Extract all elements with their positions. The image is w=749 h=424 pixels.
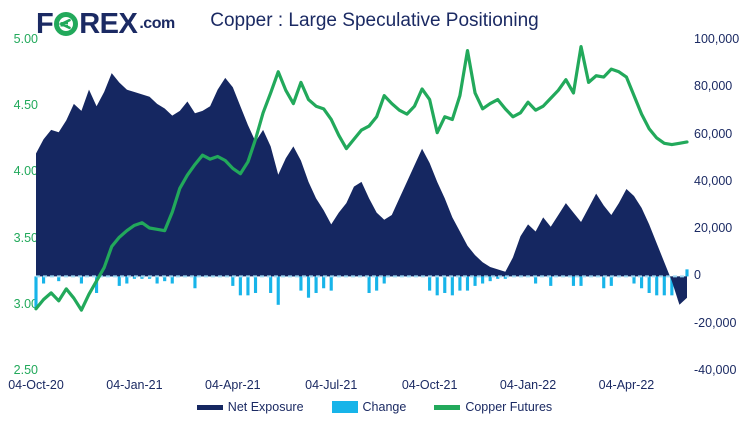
change-bar (685, 269, 688, 276)
legend-label: Change (363, 400, 407, 414)
change-bar (572, 276, 575, 285)
legend-item[interactable]: Net Exposure (197, 400, 304, 414)
change-bar (42, 276, 45, 283)
change-bar (156, 276, 159, 283)
change-bar (655, 276, 658, 295)
change-bar (368, 276, 371, 293)
change-bar (383, 276, 386, 283)
change-bar (579, 276, 582, 285)
change-bar (640, 276, 643, 288)
change-bar (458, 276, 461, 290)
change-bar (428, 276, 431, 290)
change-bar (299, 276, 302, 290)
change-bar (436, 276, 439, 295)
legend-label: Net Exposure (228, 400, 304, 414)
change-bar (269, 276, 272, 293)
change-bar (549, 276, 552, 285)
change-bar (375, 276, 378, 290)
change-bar (473, 276, 476, 285)
legend-swatch-line (197, 405, 223, 410)
change-bar (231, 276, 234, 285)
change-bar (125, 276, 128, 283)
change-bar (648, 276, 651, 293)
change-bar (602, 276, 605, 288)
change-bar (330, 276, 333, 290)
legend-item[interactable]: Copper Futures (434, 400, 552, 414)
legend-swatch-box (332, 401, 358, 413)
change-bar (254, 276, 257, 293)
change-bar (239, 276, 242, 295)
change-bar (534, 276, 537, 283)
legend-label: Copper Futures (465, 400, 552, 414)
legend-swatch-line (434, 405, 460, 410)
change-bar (632, 276, 635, 283)
change-bar (277, 276, 280, 304)
net-exposure-area (36, 73, 687, 305)
change-bar (451, 276, 454, 295)
change-bar (443, 276, 446, 293)
change-bar (481, 276, 484, 283)
change-bar (307, 276, 310, 297)
change-bar (193, 276, 196, 288)
change-bar (315, 276, 318, 293)
change-bar (610, 276, 613, 285)
change-bar (118, 276, 121, 285)
change-bar (466, 276, 469, 290)
change-bar (171, 276, 174, 283)
change-bar (34, 276, 37, 309)
chart-legend: Net ExposureChangeCopper Futures (0, 400, 749, 414)
change-bar (322, 276, 325, 288)
chart-container: F REX .com Copper : Large Speculative Po… (0, 0, 749, 424)
plot-area (0, 0, 749, 424)
net-exposure-area-group (36, 73, 687, 305)
change-bar (80, 276, 83, 283)
change-bar (246, 276, 249, 295)
change-bar (663, 276, 666, 295)
legend-item[interactable]: Change (332, 400, 407, 414)
